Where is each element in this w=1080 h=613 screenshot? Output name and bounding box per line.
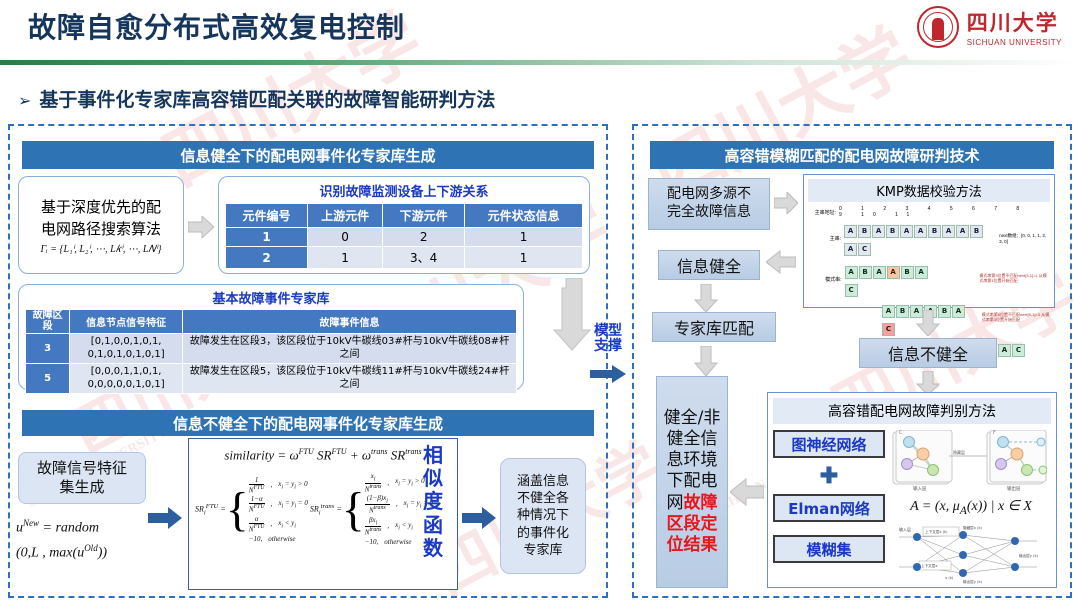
table-row: 2 1 3、4 1 [226,247,583,269]
kmp-note-1: 模式串第3位置不匹配next[3-1]=1 从模式串第1位置开始匹配 [979,274,1050,283]
bullet-arrow-icon: ➢ [18,91,31,110]
upstream-downstream-table-box: 识别故障监测设备上下游关系 元件编号 上游元件 下游元件 元件状态信息 1 0 … [218,176,590,274]
fault-discrimination-method-box: 高容错配电网故障判别方法 图神经网络 ✚ Elman网络 模糊集 [767,392,1057,588]
random-formula: uNew = random (0,L , max(uOld)) [16,518,166,561]
grey-arrow-right-icon-1 [188,216,214,238]
table2-r1-c0: 5 [26,364,70,394]
kmp-main-label: 主串: [808,235,844,242]
result-line-0: 健全/非 [664,408,721,429]
table1-r0-c3: 1 [465,228,583,247]
svg-text:隐藏层: 隐藏层 [953,449,965,455]
logo-name-en: SICHUAN UNIVERSITY [967,38,1062,47]
source-line-1: 配电网多源不 [667,186,751,204]
grey-curved-arrow-icon [530,278,592,360]
kmp-addr-label: 主串地址: [808,209,839,216]
table2-r0-c1: [0,1,0,0,1,0,1,0,1,0,1,0,1,0,1] [70,334,183,364]
kmp-indices: 0 1 2 3 4 5 6 7 8 9 10 11 [839,206,1050,218]
svg-text:输出层y (k): 输出层y (k) [963,579,983,584]
table1-col-1: 上游元件 [308,204,383,228]
table1-r1-c2: 3、4 [383,247,465,269]
method-title: 高容错配电网故障判别方法 [773,398,1051,424]
method-tags: 图神经网络 ✚ Elman网络 模糊集 [773,430,885,590]
table2-title: 基本故障事件专家库 [25,288,517,307]
university-seal-icon [917,6,959,48]
bridge-arrow-icon [590,364,626,384]
table2-col-0: 故障区段 [26,310,70,334]
table-row: 5 [0,0,0,1,1,0,1,0,0,0,0,0,1,0,1] 故障发生在区… [26,364,517,394]
coverage-line-4: 专家库 [523,542,562,559]
similarity-main-formula: similarity = ωFTU SRFTU + ωtrans SRtrans [195,447,451,463]
grey-arrow-down-icon-2 [694,346,718,376]
sr-ftu-case-1: 1−αNFTU, xi = yi = 0 [249,495,308,513]
table1-header-row: 元件编号 上游元件 下游元件 元件状态信息 [226,204,583,228]
blue-arrow-right-icon-2 [462,506,496,530]
table2-r1-c1: [0,0,0,1,1,0,1,0,0,0,0,0,1,0,1] [70,364,183,394]
sr-trans-piecewise: SRitrans = { xiNtrans, xi = yi > 0 (1−β)… [310,471,433,548]
section-heading-text: 基于事件化专家库高容错匹配关联的故障智能研判方法 [39,89,495,111]
tag-elman[interactable]: Elman网络 [773,494,885,522]
blue-arrow-right-icon-1 [148,506,182,530]
kmp-main-string: ABABAABAABAC [844,220,994,256]
info-incomplete-box: 信息不健全 [859,338,997,368]
fault-event-expert-library-box: 基本故障事件专家库 故障区段 信息节点信号特征 故障事件信息 3 [0,1,0,… [18,284,524,390]
kmp-note-2: 模式串第6位置不匹配next[6-1]=3 从模式串第3位置开始匹配 [982,313,1050,322]
result-line-1: 健全信 [667,429,718,450]
kmp-pattern-1: ABAABAC [845,261,934,297]
bridge-label: 模型 支撑 [588,324,628,355]
table1: 元件编号 上游元件 下游元件 元件状态信息 1 0 2 1 2 1 3、4 1 [225,203,583,269]
random-formula-line-2: (0,L , max(uOld)) [16,543,166,562]
kmp-pattern-label: 模式串: [808,276,845,283]
svg-text:输出层y (k): 输出层y (k) [1019,553,1039,558]
kmp-method-box: KMP数据校验方法 主串地址: 0 1 2 3 4 5 6 7 8 9 10 1… [803,174,1055,308]
plus-icon: ✚ [820,465,838,487]
table2-col-1: 信息节点信号特征 [70,310,183,334]
fault-signal-feature-box: 故障信号特征 集生成 [18,452,146,504]
title-divider [0,60,1080,65]
feature-line-1: 故障信号特征 [37,459,127,478]
table1-r0-c1: 0 [308,228,383,247]
result-line-4-prefix: 网 [667,493,684,513]
similarity-side-label: 相似度函数 [420,444,446,560]
page-title: 故障自愈分布式高效复电控制 [28,6,405,46]
table1-r0-c0: 1 [226,228,308,247]
sr-ftu-piecewise: SRiFTU = { 1NFTU, xi = yi > 0 1−αNFTU, x… [195,471,308,548]
bridge-label-line-2: 支撑 [588,339,628,354]
svg-text:输出层: 输出层 [1007,485,1021,492]
table1-r1-c3: 1 [465,247,583,269]
kmp-title: KMP数据校验方法 [808,179,1050,202]
right-bar-title: 高容错模糊匹配的配电网故障研判技术 [650,141,1054,169]
fuzzy-set-formula: A = (x, μA(x)) | x ∈ X [891,498,1051,517]
coverage-line-0: 涵盖信息 [517,473,569,490]
kmp-next-note: next数组：[0, 0, 1, 1, 2, 3, 0] [999,233,1050,244]
source-line-2: 完全故障信息 [667,204,751,222]
svg-text:上下文层x: 上下文层x [921,563,938,568]
result-highlight-fault: 故障 [684,493,718,513]
table1-r1-c1: 1 [308,247,383,269]
brace-left-1: { [226,495,249,525]
table2-header-row: 故障区段 信息节点信号特征 故障事件信息 [26,310,517,334]
coverage-line-2: 种情况下 [517,507,569,524]
similarity-formula-box: similarity = ωFTU SRFTU + ωtrans SRtrans… [188,438,458,590]
table1-r0-c2: 2 [383,228,465,247]
random-formula-line-1: uNew = random [16,518,166,537]
dfs-formula: Γᵢ = {L₁ⁱ, L₂ⁱ, ⋯, L𝑘ⁱ, ⋯, L𝑁ⁱ} [40,244,161,255]
dfs-algorithm-box: 基于深度优先的配 电网路径搜索算法 Γᵢ = {L₁ⁱ, L₂ⁱ, ⋯, L𝑘ⁱ… [18,176,184,274]
left-bar-title-1: 信息健全下的配电网事件化专家库生成 [22,141,594,169]
svg-text:u (k): u (k) [945,576,954,580]
svg-text:隐藏层x (k): 隐藏层x (k) [963,525,983,530]
tag-gnn[interactable]: 图神经网络 [773,430,885,458]
result-line-4: 网故障 [667,493,718,514]
left-bar-title-2: 信息不健全下的配电网事件化专家库生成 [22,410,594,436]
table2-r0-c2: 故障发生在区段3，该区段位于10kV牛碳线03#杆与10kV牛碳线08#杆之间 [183,334,517,364]
table1-r1-c0: 2 [226,247,308,269]
expert-library-match-box: 专家库匹配 [652,312,776,342]
sr-trans-label: SRitrans = [310,503,342,516]
svg-text:输入层: 输入层 [913,485,927,492]
svg-text:C: C [899,430,903,436]
table2: 故障区段 信息节点信号特征 故障事件信息 3 [0,1,0,0,1,0,1,0,… [25,309,517,394]
svg-text:上下文层x (k): 上下文层x (k) [925,529,948,534]
sichuan-university-logo: 四川大学 SICHUAN UNIVERSITY [917,6,1062,48]
table1-title: 识别故障监测设备上下游关系 [225,181,583,200]
brace-left-2: { [342,495,365,525]
grey-arrow-down-icon-3 [916,310,940,336]
svg-text:输入层: 输入层 [899,526,911,532]
dfs-line-2: 电网路径搜索算法 [41,218,161,239]
table-row: 1 0 2 1 [226,228,583,247]
logo-name-zh: 四川大学 [967,10,1059,35]
result-line-5: 区段定 [667,514,718,535]
sr-ftu-case-0: 1NFTU, xi = yi > 0 [249,476,308,494]
table1-col-2: 下游元件 [383,204,465,228]
gnn-diagram: 隐藏层 C F 输入层 输出层 [891,430,1051,492]
table1-col-0: 元件编号 [226,204,308,228]
svg-text:F: F [993,430,996,436]
tag-fuzzyset[interactable]: 模糊集 [773,535,885,563]
table1-col-3: 元件状态信息 [465,204,583,228]
multi-source-info-box: 配电网多源不 完全故障信息 [648,178,770,230]
result-line-2: 息环境 [667,450,718,471]
grey-arrow-left-icon-1 [766,250,796,274]
sr-ftu-case-2: αNFTU, xi < yi [249,515,308,533]
sr-ftu-case-3: −10,otherwise [249,535,308,543]
coverage-line-3: 的事件化 [517,525,569,542]
coverage-line-1: 不健全各 [517,490,569,507]
elman-diagram: 输入层 上下文层x (k) 上下文层x 隐藏层x (k) 输出层y (k) 输出… [891,523,1051,590]
grey-arrow-down-icon-1 [694,284,718,312]
feature-line-2: 集生成 [59,478,104,497]
section-heading: ➢基于事件化专家库高容错匹配关联的故障智能研判方法 [18,85,495,112]
grey-arrow-left-icon-2 [730,478,764,506]
sr-ftu-label: SRiFTU = [195,503,226,516]
table-row: 3 [0,1,0,0,1,0,1,0,1,0,1,0,1,0,1] 故障发生在区… [26,334,517,364]
table2-r0-c0: 3 [26,334,70,364]
dfs-line-1: 基于深度优先的配 [41,196,161,217]
coverage-result-box: 涵盖信息 不健全各 种情况下 的事件化 专家库 [500,458,586,574]
fault-location-result-box: 健全/非 健全信 息环境 下配电 网故障 区段定 位结果 [656,376,728,588]
table2-col-2: 故障事件信息 [183,310,517,334]
grey-arrow-right-icon-2 [774,192,798,214]
result-line-3: 下配电 [667,471,718,492]
table2-r1-c2: 故障发生在区段5，该区段位于10kV牛碳线11#杆与10kV牛碳线24#杆之间 [183,364,517,394]
result-line-6: 位结果 [667,535,718,556]
info-complete-box: 信息健全 [658,250,760,280]
